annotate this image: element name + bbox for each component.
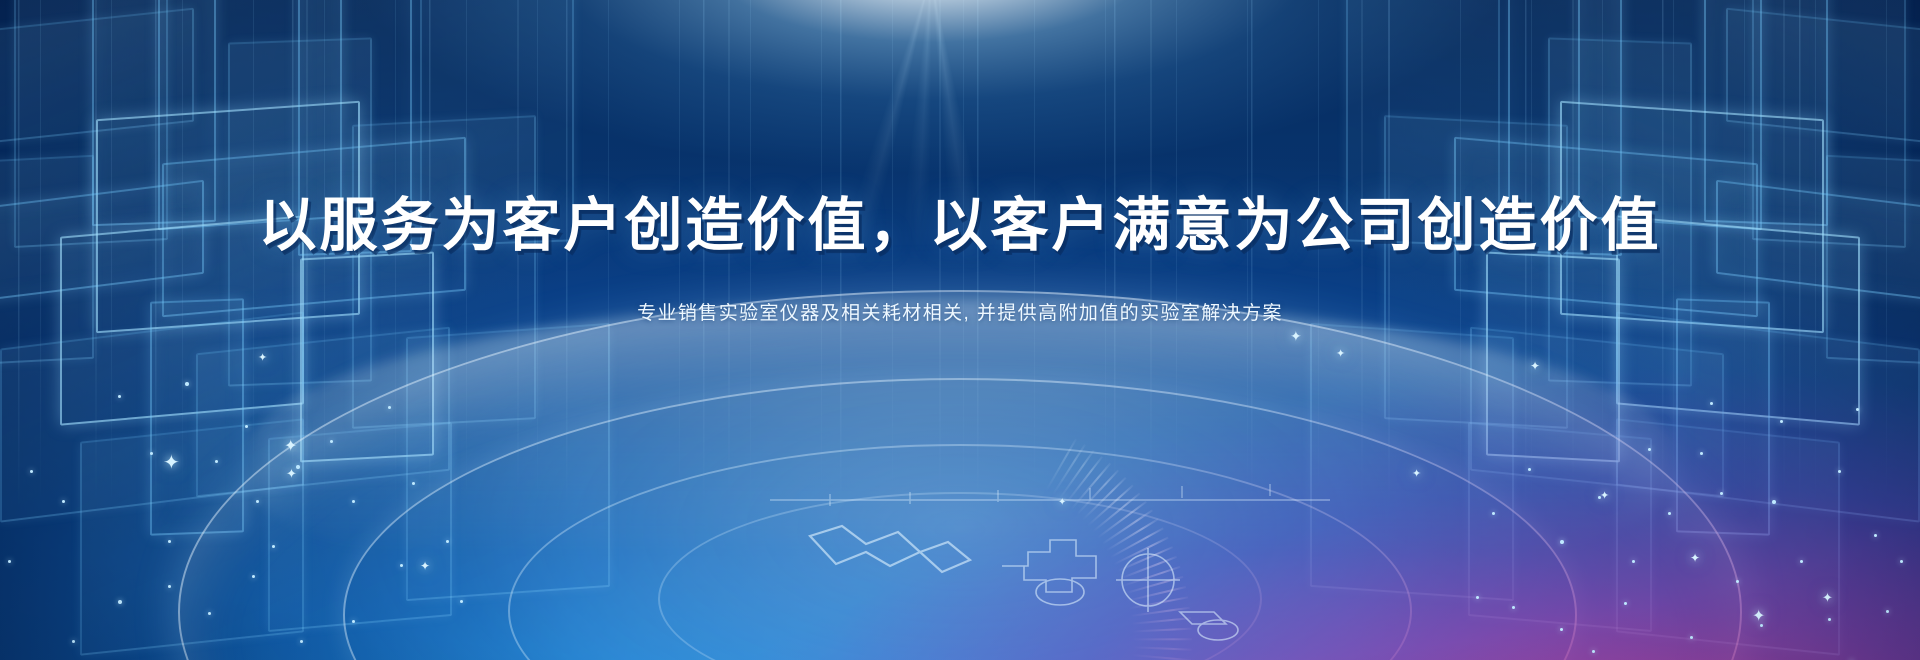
hero-banner: ✦✦✦✦✦✦✦✦✦✦✦✦✦✦ 以服务为客户创造价值，以客户满意为公司创造价值 专… [0, 0, 1920, 660]
banner-headline: 以服务为客户创造价值，以客户满意为公司创造价值 [0, 178, 1920, 262]
banner-text-block: 以服务为客户创造价值，以客户满意为公司创造价值 专业销售实验室仪器及相关耗材相关… [0, 178, 1920, 325]
banner-subheadline: 专业销售实验室仪器及相关耗材相关, 并提供高附加值的实验室解决方案 [0, 298, 1920, 325]
hud-glyphs [770, 440, 1330, 660]
